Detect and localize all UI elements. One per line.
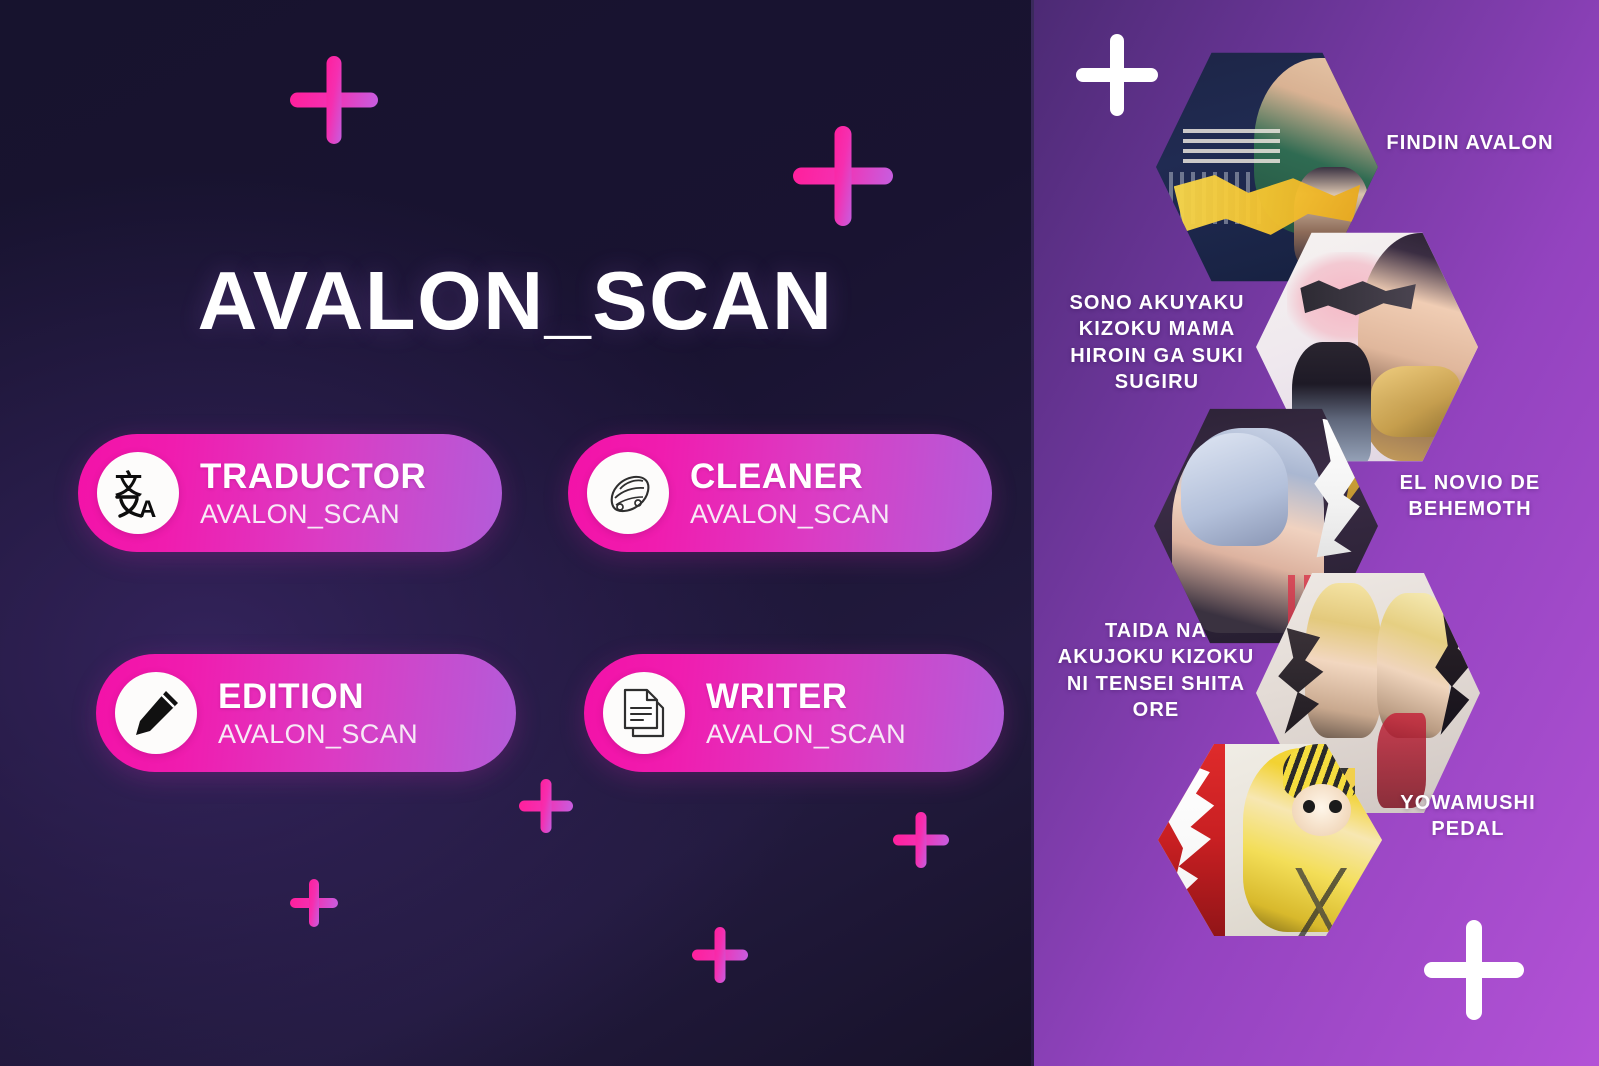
- manga-title-label: YOWAMUSHI PEDAL: [1368, 790, 1568, 843]
- translate-icon: 文 A: [97, 452, 179, 534]
- manga-title-label: SONO AKUYAKU KIZOKU MAMA HIROIN GA SUKI …: [1054, 290, 1260, 396]
- role-text-block: WRITER AVALON_SCAN: [706, 679, 906, 748]
- panel-divider: [1031, 0, 1034, 1066]
- role-title: CLEANER: [690, 459, 890, 494]
- plus-decoration-icon: [1076, 34, 1158, 116]
- svg-text:A: A: [139, 496, 156, 520]
- poster-canvas: AVALON_SCAN 文 A TRADU: [0, 0, 1599, 1066]
- role-title: EDITION: [218, 679, 418, 714]
- role-subtitle: AVALON_SCAN: [218, 721, 418, 748]
- role-button-cleaner[interactable]: CLEANER AVALON_SCAN: [568, 434, 992, 552]
- role-subtitle: AVALON_SCAN: [200, 501, 426, 528]
- left-panel: AVALON_SCAN 文 A TRADU: [0, 0, 1031, 1066]
- plus-decoration-icon: [1424, 920, 1524, 1020]
- role-button-grid: 文 A TRADUCTOR AVALON_SCAN: [0, 0, 1031, 1066]
- role-title: WRITER: [706, 679, 906, 714]
- role-button-writer[interactable]: WRITER AVALON_SCAN: [584, 654, 1004, 772]
- manga-title-label: EL NOVIO DE BEHEMOTH: [1370, 470, 1570, 523]
- document-icon: [603, 672, 685, 754]
- role-button-traductor[interactable]: 文 A TRADUCTOR AVALON_SCAN: [78, 434, 502, 552]
- manga-title-label: TAIDA NA AKUJOKU KIZOKU NI TENSEI SHITA …: [1050, 618, 1262, 724]
- role-title: TRADUCTOR: [200, 459, 426, 494]
- role-text-block: TRADUCTOR AVALON_SCAN: [200, 459, 426, 528]
- role-button-edition[interactable]: EDITION AVALON_SCAN: [96, 654, 516, 772]
- role-text-block: EDITION AVALON_SCAN: [218, 679, 418, 748]
- manga-title-label: FINDIN AVALON: [1372, 130, 1568, 156]
- pencil-icon: [115, 672, 197, 754]
- role-subtitle: AVALON_SCAN: [690, 501, 890, 528]
- eraser-icon: [587, 452, 669, 534]
- showcase-panel: FINDIN AVALON SONO AKUYAKU KIZOKU MAMA H…: [1034, 0, 1599, 1066]
- role-text-block: CLEANER AVALON_SCAN: [690, 459, 890, 528]
- role-subtitle: AVALON_SCAN: [706, 721, 906, 748]
